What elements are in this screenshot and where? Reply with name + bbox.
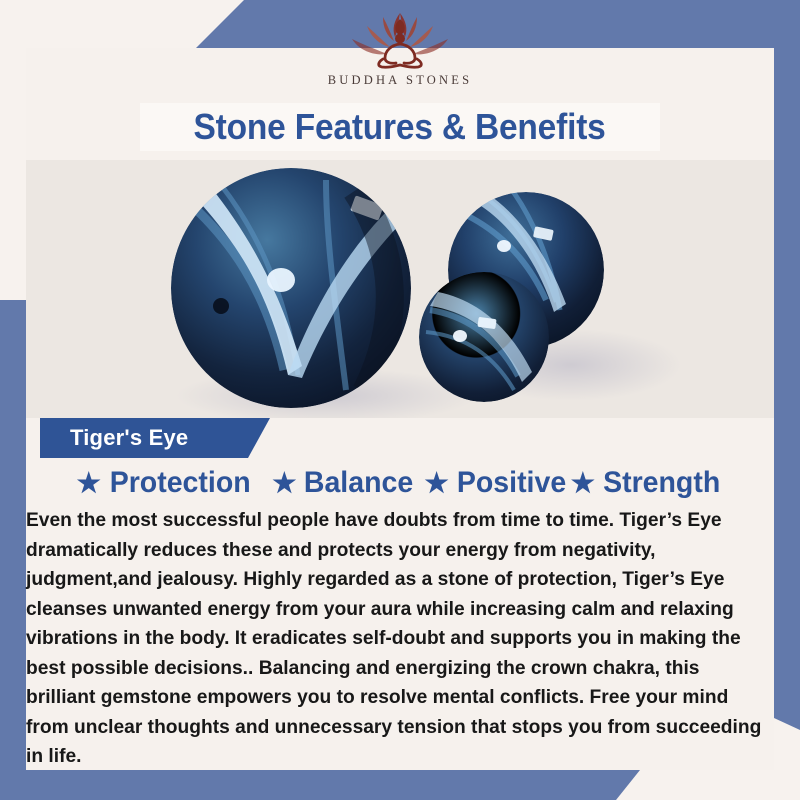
star-icon: ★ [571, 470, 595, 497]
right-accent-strip-tail [774, 700, 800, 730]
star-icon: ★ [77, 470, 101, 497]
lotus-meditation-logo-icon [335, 6, 465, 72]
star-icon: ★ [425, 470, 449, 497]
stone-photo [26, 160, 774, 418]
left-accent-strip [0, 300, 26, 800]
benefits-row: ★ Protection ★ Balance ★ Positive ★ Stre… [26, 462, 774, 504]
benefit-label: Balance [304, 466, 413, 500]
title-banner: Stone Features & Benefits [140, 103, 660, 151]
star-icon: ★ [272, 470, 296, 497]
benefit-item-balance: ★ Balance [272, 466, 416, 500]
stone-name-tag: Tiger's Eye [40, 418, 270, 458]
benefit-item-positive: ★ Positive [425, 466, 569, 500]
benefit-label: Strength [603, 466, 720, 500]
stone-name-label: Tiger's Eye [40, 425, 188, 451]
page-title: Stone Features & Benefits [194, 106, 606, 148]
brand-logo: BUDDHA STONES [0, 6, 800, 106]
poster-root: BUDDHA STONES Stone Features & Benefits [0, 0, 800, 800]
bottom-left-accent-joint [0, 750, 26, 770]
brand-name: BUDDHA STONES [328, 73, 473, 88]
benefit-item-protection: ★ Protection [77, 466, 255, 500]
stone-photo-illustration [26, 160, 774, 418]
benefit-item-strength: ★ Strength [571, 466, 724, 500]
benefit-label: Protection [110, 466, 251, 500]
bottom-accent-band [0, 770, 640, 800]
description-text: Even the most successful people have dou… [26, 506, 773, 772]
benefit-label: Positive [457, 466, 566, 500]
